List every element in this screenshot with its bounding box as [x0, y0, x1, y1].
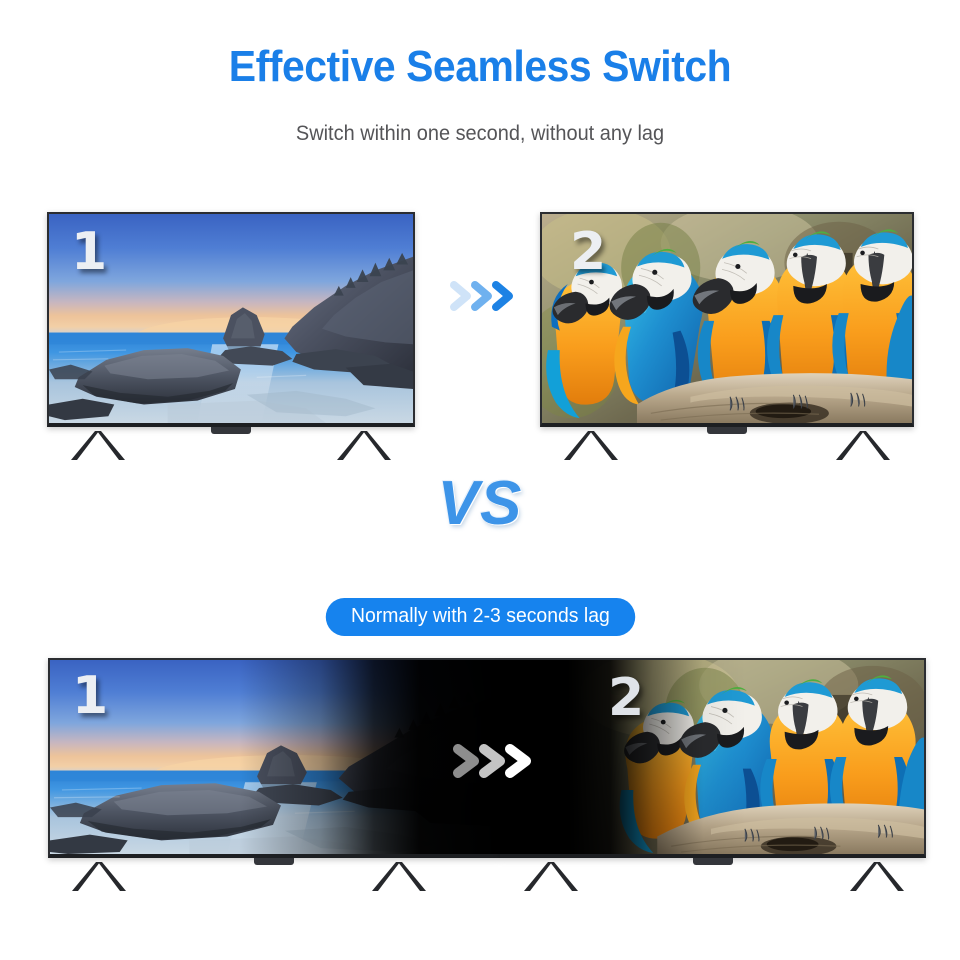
- seascape-fading-illustration: [50, 660, 500, 854]
- tv-top-right: 2: [540, 212, 914, 427]
- vs-label: VS: [0, 468, 960, 539]
- tv-brand-bar: [707, 427, 747, 434]
- macaws-illustration: [542, 214, 912, 423]
- leg-chevron-icon: [370, 860, 428, 892]
- tv-brand-bar: [254, 858, 294, 865]
- lag-badge-container: Normally with 2-3 seconds lag: [0, 598, 960, 636]
- leg-chevron-icon: [335, 429, 393, 461]
- tv-screen-macaws: 2: [540, 212, 914, 427]
- macaws-emerging-illustration: [500, 660, 924, 854]
- transition-arrow-bottom: [450, 736, 542, 786]
- leg-chevron-icon: [834, 429, 892, 461]
- leg-chevron-icon: [69, 429, 127, 461]
- leg-chevron-icon: [522, 860, 580, 892]
- lag-badge: Normally with 2-3 seconds lag: [325, 598, 634, 636]
- tv-bottom-right: 2: [500, 658, 926, 858]
- tv-brand-bar: [211, 427, 251, 434]
- tv-bottom-left: 1: [48, 658, 500, 858]
- page-subtitle: Switch within one second, without any la…: [24, 122, 936, 146]
- leg-chevron-icon: [70, 860, 128, 892]
- tv-screen-seascape-fading: 1: [48, 658, 500, 858]
- page-title: Effective Seamless Switch: [34, 42, 927, 92]
- seascape-illustration: [49, 214, 413, 423]
- leg-chevron-icon: [848, 860, 906, 892]
- triple-chevron-right-icon: [450, 736, 542, 786]
- tv-brand-bar: [693, 858, 733, 865]
- tv-screen-macaws-emerging: 2: [500, 658, 926, 858]
- transition-arrow-top: [448, 274, 520, 318]
- leg-chevron-icon: [562, 429, 620, 461]
- lag-comparison-panel: 1: [48, 658, 926, 858]
- tv-screen-seascape: 1: [47, 212, 415, 427]
- tv-top-left: 1: [47, 212, 415, 427]
- triple-chevron-right-icon: [448, 274, 520, 318]
